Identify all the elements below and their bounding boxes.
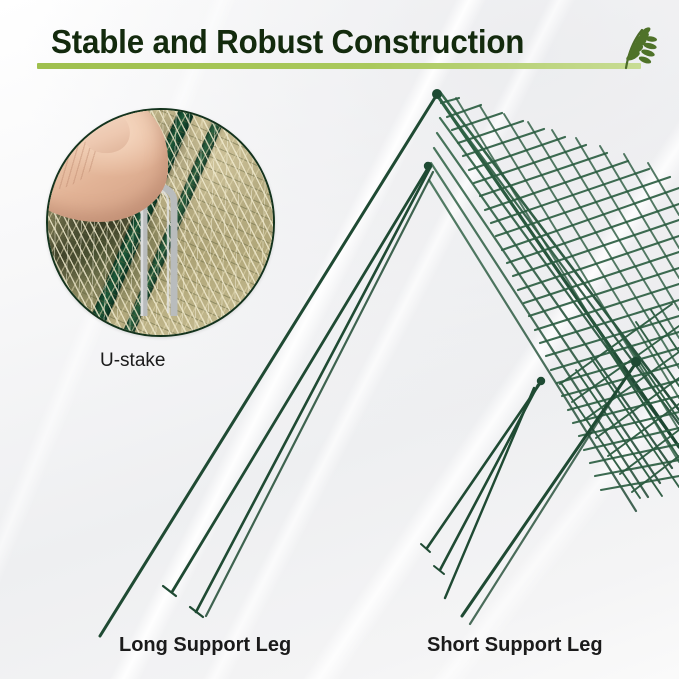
caption-long-support-leg: Long Support Leg: [119, 634, 291, 657]
u-stake-closeup-photo: [46, 108, 275, 337]
background-gradient: [0, 0, 679, 679]
inset-photo-content: [46, 108, 275, 337]
page-title: Stable and Robust Construction: [51, 20, 524, 64]
caption-u-stake: U-stake: [100, 350, 165, 372]
hand-finger: [46, 108, 168, 222]
product-feature-image: Stable and Robust Construction: [0, 0, 679, 679]
caption-short-support-leg: Short Support Leg: [427, 634, 603, 657]
leaf-sprig-icon: [616, 22, 658, 70]
headline-block: Stable and Robust Construction: [0, 0, 679, 80]
